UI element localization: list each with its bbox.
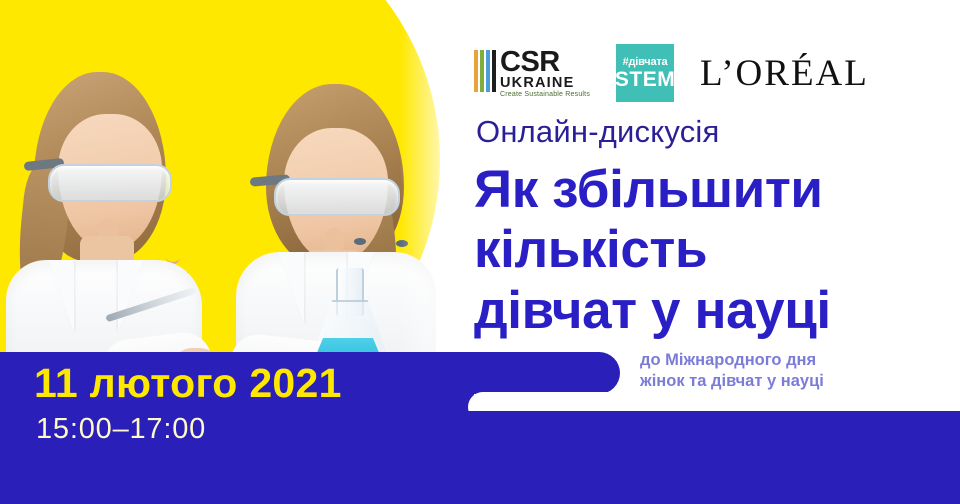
- coat-lapel-left: [48, 260, 74, 332]
- subtitle-line-1: до Міжнародного дня: [640, 350, 940, 371]
- csr-color-bars-icon: [474, 48, 496, 92]
- event-time: 15:00–17:00: [36, 413, 206, 446]
- eye: [354, 238, 366, 245]
- csr-country: UKRAINE: [500, 76, 590, 91]
- subtitle: до Міжнародного дня жінок та дівчат у на…: [640, 350, 940, 391]
- headline: Як збільшити кількість дівчат у науці: [474, 160, 934, 341]
- safety-goggles: [48, 164, 172, 202]
- logo-row: CSR UKRAINE Create Sustainable Results #…: [474, 44, 869, 102]
- csr-ukraine-logo: CSR UKRAINE Create Sustainable Results: [474, 48, 590, 99]
- coat-lapel-right: [118, 260, 144, 332]
- divchata-stem-logo: #дівчата STEM: [616, 44, 674, 102]
- headline-line-3: дівчат у науці: [474, 281, 934, 341]
- stem-wordmark: STEM: [615, 69, 675, 90]
- safety-goggles: [274, 178, 400, 216]
- event-type-kicker: Онлайн-дискусія: [476, 114, 719, 150]
- loreal-logo: L’ORÉAL: [700, 52, 869, 95]
- headline-line-1: Як збільшити: [474, 160, 934, 220]
- csr-tagline: Create Sustainable Results: [500, 91, 590, 98]
- headline-line-2: кількість: [474, 220, 934, 280]
- csr-wordmark: CSR: [500, 48, 590, 77]
- subtitle-line-2: жінок та дівчат у науці: [640, 371, 940, 392]
- coat-lapel-left: [278, 252, 304, 324]
- event-promo-banner: 11 лютого 2021 15:00–17:00 CSR UKRAINE C…: [0, 0, 960, 504]
- stem-hashtag: #дівчата: [623, 57, 668, 68]
- event-date: 11 лютого 2021: [34, 360, 342, 407]
